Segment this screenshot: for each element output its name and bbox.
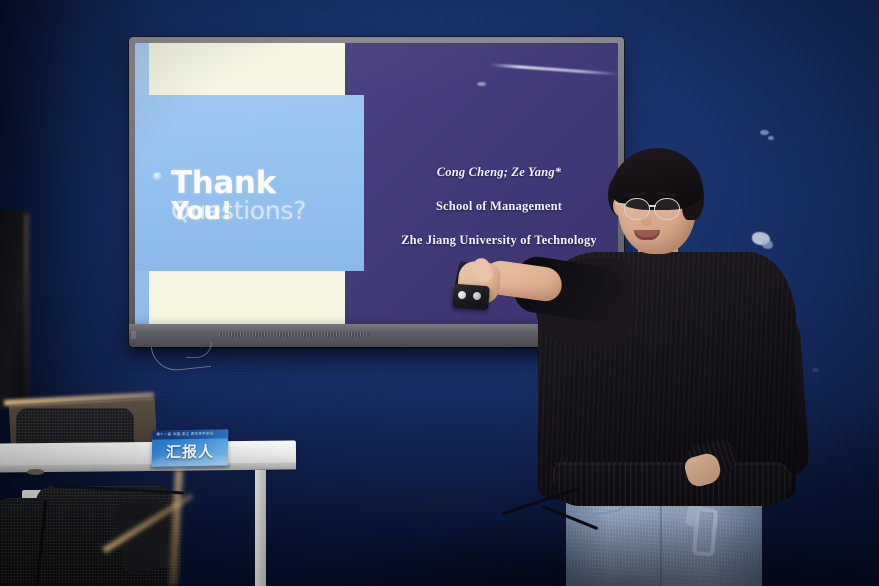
screenshot-scene: Thank Questions? You! Cong Cheng; Ze Yan…: [0, 0, 879, 586]
image-vignette: [0, 0, 879, 586]
